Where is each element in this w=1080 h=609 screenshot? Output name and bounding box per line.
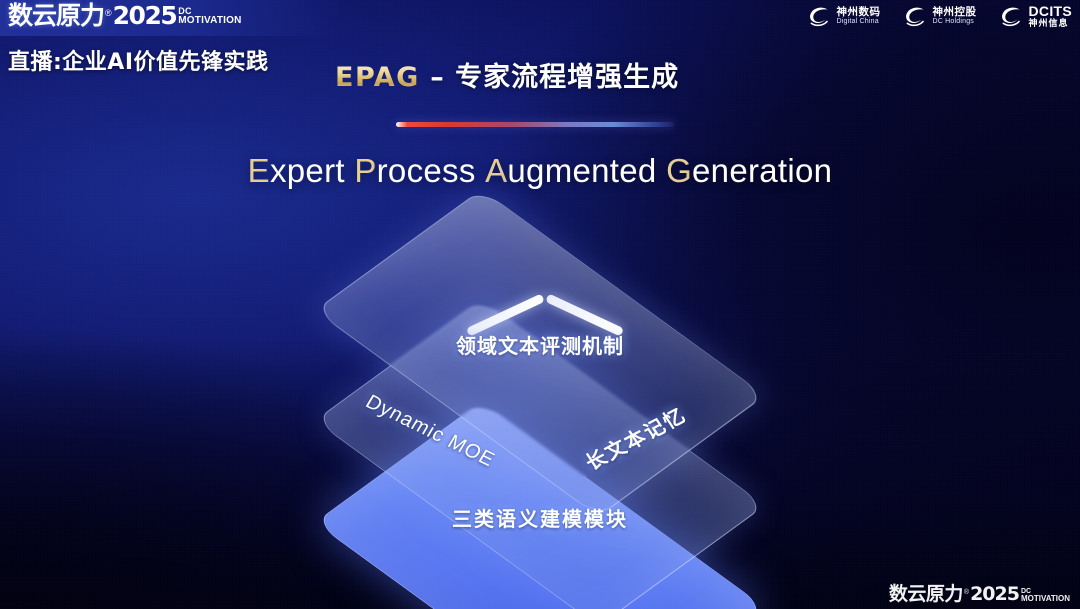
watermark-cn: 数云原力	[889, 585, 963, 604]
acronym-expansion: Expert Process Augmented Generation	[0, 152, 1080, 190]
partner-name-en: DC Holdings	[933, 18, 977, 25]
footer-watermark-logo: 数云原力 ® 2025 DC MOTIVATION	[889, 585, 1070, 604]
expansion-space-3	[657, 152, 666, 189]
partner-logo-dcits: DCITS 神州信息	[999, 4, 1073, 29]
partner-name-cn: 神州信息	[1029, 19, 1073, 28]
partner-logo-text: 神州控股 DC Holdings	[933, 7, 977, 25]
event-logo-dc: DC MOTIVATION	[178, 7, 241, 26]
swirl-icon	[903, 4, 928, 29]
event-logo-cn: 数云原力	[8, 3, 104, 28]
livestream-subtitle: 直播:企业AI价值先锋实践	[8, 44, 269, 76]
layered-architecture-diagram: 领域文本评测机制 Dynamic MOE 长文本记忆 三类语义建模模块	[260, 215, 820, 590]
expansion-initial-g: G	[666, 152, 692, 189]
watermark-mark: ®	[964, 589, 969, 596]
event-logo-year: 2025	[113, 3, 177, 28]
partner-name-en: DCITS	[1029, 4, 1073, 19]
expansion-initial-p: P	[354, 152, 376, 189]
partner-name-cn: 神州控股	[933, 7, 977, 18]
partner-logo-dc-holdings: 神州控股 DC Holdings	[903, 4, 977, 29]
registered-mark: ®	[105, 9, 112, 18]
chevron-up-icon	[470, 267, 620, 313]
expansion-rest-process: rocess	[377, 152, 476, 189]
swirl-icon	[999, 4, 1024, 29]
partner-logo-text: DCITS 神州信息	[1029, 4, 1073, 28]
event-logo: 数云原力 ® 2025 DC MOTIVATION	[8, 3, 242, 28]
expansion-rest-generation: eneration	[692, 152, 832, 189]
diagram-label-bottom: 三类语义建模模块	[260, 503, 820, 532]
title-divider	[396, 122, 674, 127]
expansion-space-2	[476, 152, 485, 189]
partner-logo-digital-china: 神州数码 Digital China	[807, 4, 881, 29]
expansion-initial-e: E	[248, 152, 270, 189]
event-logo-dc-line2: MOTIVATION	[178, 16, 241, 26]
partner-name-en: Digital China	[837, 18, 881, 25]
expansion-rest-augmented: ugmented	[507, 152, 656, 189]
slide-title-acronym: EPAG	[335, 62, 420, 93]
partner-logo-text: 神州数码 Digital China	[837, 7, 881, 25]
slide-title: EPAG – 专家流程增强生成	[335, 55, 679, 94]
partner-logo-group: 神州数码 Digital China 神州控股 DC Holdings	[807, 4, 1073, 29]
expansion-initial-a: A	[485, 152, 507, 189]
expansion-space-1	[345, 152, 354, 189]
watermark-dc: DC MOTIVATION	[1021, 588, 1070, 603]
slide-title-cn: – 专家流程增强生成	[420, 62, 679, 93]
watermark-dc-line2: MOTIVATION	[1021, 595, 1070, 603]
slide-canvas: 数云原力 ® 2025 DC MOTIVATION 直播:企业AI价值先锋实践 …	[0, 0, 1080, 609]
watermark-year: 2025	[970, 585, 1019, 604]
expansion-rest-expert: xpert	[270, 152, 345, 189]
partner-name-cn: 神州数码	[837, 7, 881, 18]
swirl-icon	[807, 4, 832, 29]
diagram-label-top: 领域文本评测机制	[260, 330, 820, 359]
